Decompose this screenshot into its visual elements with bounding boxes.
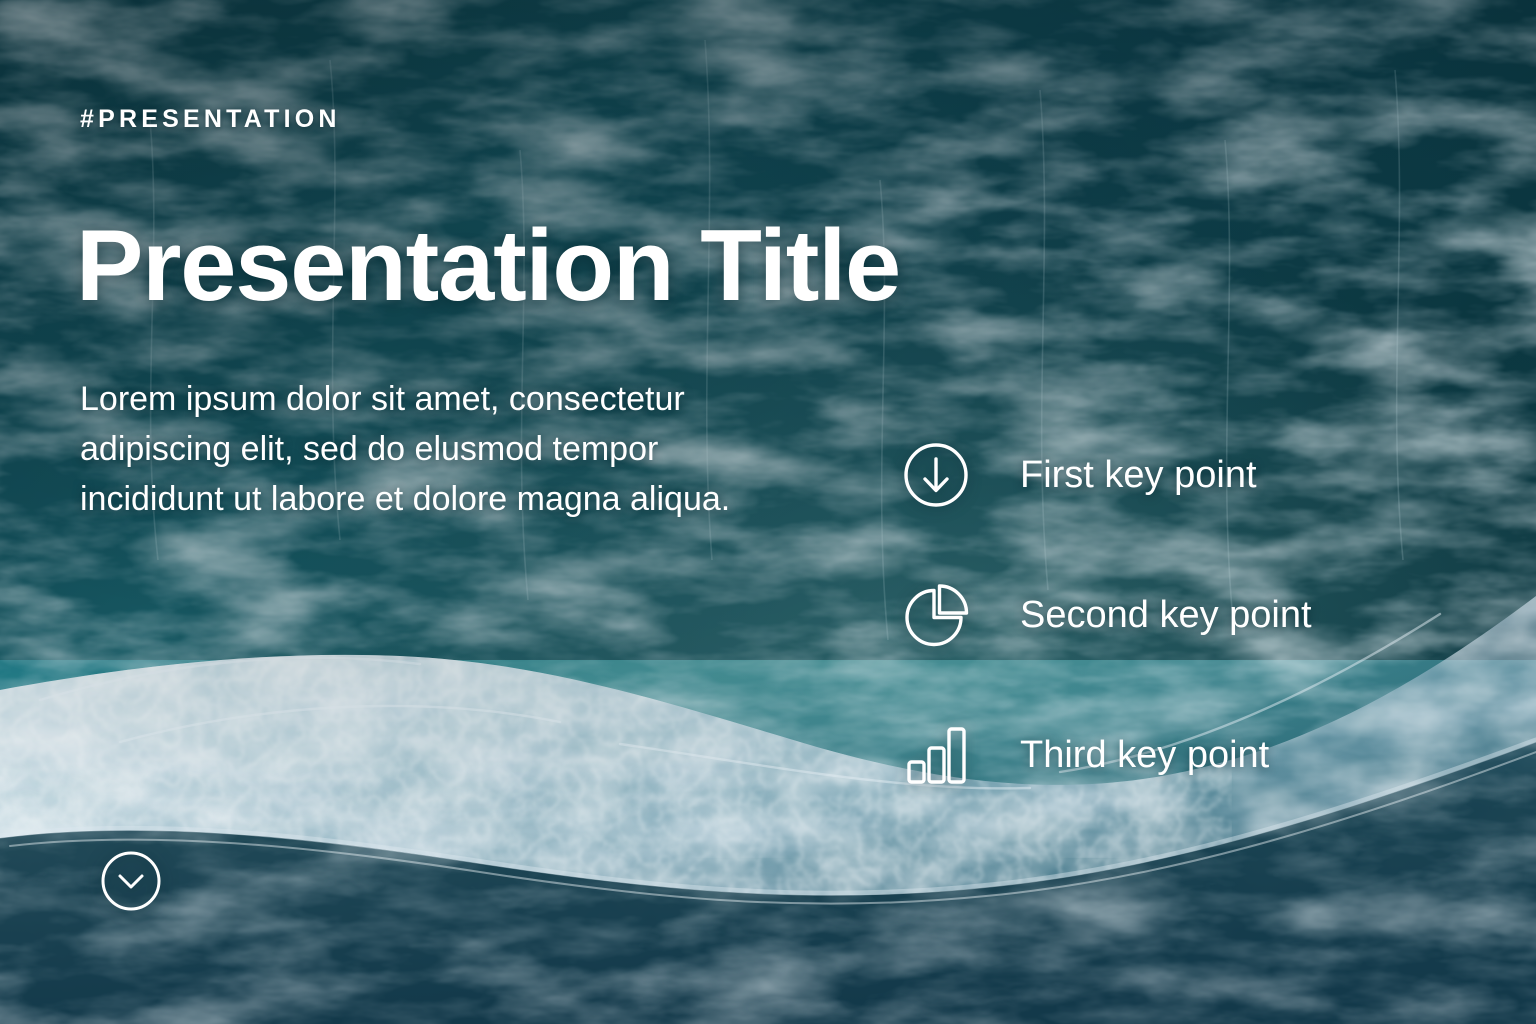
key-point-item-2[interactable]: Second key point <box>900 572 1460 658</box>
bar-chart-icon <box>900 719 972 791</box>
presentation-slide: #PRESENTATION Presentation Title Lorem i… <box>0 0 1536 1024</box>
slide-content: #PRESENTATION Presentation Title Lorem i… <box>0 0 1536 1024</box>
key-point-item-3[interactable]: Third key point <box>900 712 1460 798</box>
arrow-down-circle-icon <box>900 439 972 511</box>
key-point-item-1[interactable]: First key point <box>900 432 1460 518</box>
page-title: Presentation Title <box>76 213 900 319</box>
chevron-down-circle-icon <box>100 850 162 912</box>
key-point-label: Third key point <box>1020 734 1269 777</box>
eyebrow-label: #PRESENTATION <box>80 105 341 134</box>
key-point-label: First key point <box>1020 454 1257 497</box>
key-points-list: First key point Second key point <box>900 432 1460 798</box>
body-paragraph: Lorem ipsum dolor sit amet, consectetur … <box>80 375 770 525</box>
scroll-down-button[interactable] <box>100 850 162 912</box>
key-point-label: Second key point <box>1020 594 1312 637</box>
pie-chart-icon <box>900 579 972 651</box>
